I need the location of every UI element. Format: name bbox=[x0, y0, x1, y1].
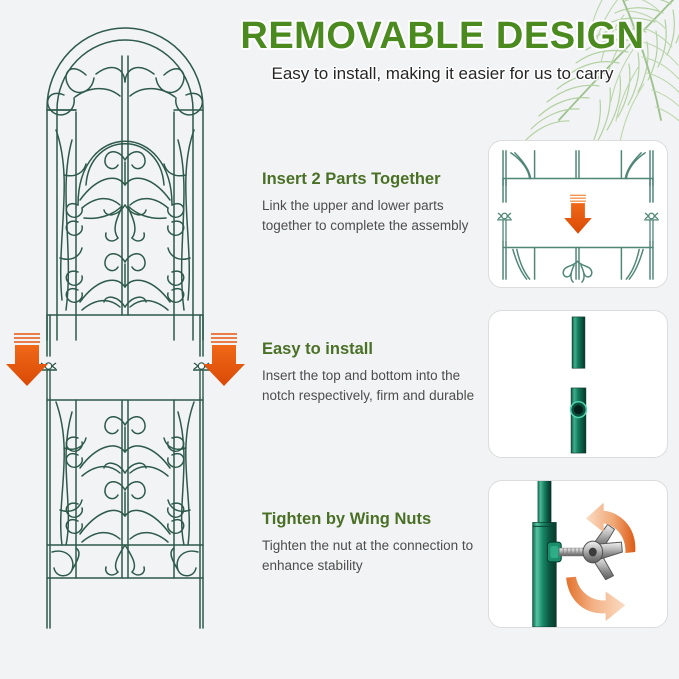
notch-insert-panel bbox=[488, 310, 668, 458]
rotation-arrow-down bbox=[566, 577, 625, 621]
upper-rod bbox=[572, 317, 585, 368]
panel1-pin-right bbox=[644, 213, 659, 242]
wing-nut-diagram bbox=[489, 481, 667, 627]
lower-tube bbox=[571, 388, 587, 453]
insert-parts-panel bbox=[488, 140, 668, 288]
feature-body-3: Tighten the nut at the connection to enh… bbox=[262, 536, 480, 576]
detail-panel-group bbox=[488, 140, 668, 640]
page-subtitle: Easy to install, making it easier for us… bbox=[210, 64, 675, 84]
notch-insert-diagram bbox=[489, 311, 667, 457]
page-title: REMOVABLE DESIGN bbox=[210, 14, 675, 58]
feature-item-2: Easy to install Insert the top and botto… bbox=[262, 339, 480, 406]
trellis-upper-section bbox=[44, 28, 206, 356]
feature-title-3: Tighten by Wing Nuts bbox=[262, 509, 480, 530]
panel1-pin-left bbox=[497, 213, 512, 242]
header: REMOVABLE DESIGN Easy to install, making… bbox=[210, 14, 675, 114]
feature-body-2: Insert the top and bottom into the notch… bbox=[262, 366, 480, 406]
feature-title-2: Easy to install bbox=[262, 339, 480, 360]
feature-title-1: Insert 2 Parts Together bbox=[262, 169, 480, 190]
feature-list: Insert 2 Parts Together Link the upper a… bbox=[262, 135, 480, 645]
infographic-page: REMOVABLE DESIGN Easy to install, making… bbox=[0, 0, 679, 679]
outer-sleeve bbox=[533, 522, 557, 627]
wing-nut-panel bbox=[488, 480, 668, 628]
feature-item-3: Tighten by Wing Nuts Tighten the nut at … bbox=[262, 509, 480, 576]
assembly-arrow-right bbox=[203, 334, 245, 386]
feature-body-1: Link the upper and lower parts together … bbox=[262, 196, 480, 236]
trellis-lower-section bbox=[47, 398, 203, 628]
wing-nut bbox=[583, 524, 622, 579]
panel1-down-arrow bbox=[564, 195, 592, 233]
insert-parts-diagram bbox=[489, 141, 667, 287]
feature-item-1: Insert 2 Parts Together Link the upper a… bbox=[262, 169, 480, 236]
assembly-arrow-left bbox=[6, 334, 48, 386]
